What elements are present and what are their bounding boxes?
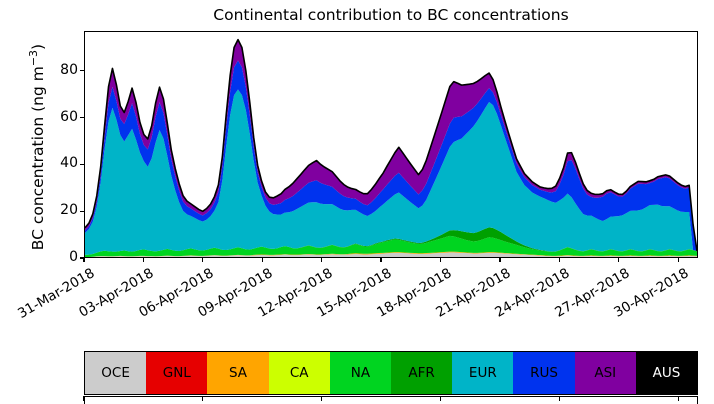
y-axis-label-tail: ) [29,44,47,50]
x-tick-mark [440,258,441,262]
legend-colorbar: OCEGNLSACANAAFREURRUSASIAUS [84,351,698,395]
legend-item-label: AFR [408,366,434,380]
legend-item-ca[interactable]: CA [269,352,330,394]
secondary-plot-area [84,396,698,404]
y-tick-label: 60 [0,110,78,124]
legend-item-aus[interactable]: AUS [636,352,697,394]
legend-item-label: GNL [163,366,191,380]
legend-item-label: NA [351,366,370,380]
y-axis-label: BC concentration (ng m−3) [27,17,47,277]
legend-item-asi[interactable]: ASI [575,352,636,394]
legend-item-label: RUS [530,366,558,380]
stacked-area-chart [85,32,697,257]
x-tick-mark [380,258,381,262]
legend-item-eur[interactable]: EUR [452,352,513,394]
legend-item-rus[interactable]: RUS [513,352,574,394]
x-tick-mark [559,258,560,262]
secondary-x-tick-mark [678,396,679,401]
x-tick-mark [678,258,679,262]
main-plot-area [84,31,698,258]
secondary-x-tick-mark [83,396,84,401]
legend-item-oce[interactable]: OCE [85,352,146,394]
legend-item-afr[interactable]: AFR [391,352,452,394]
figure-canvas: Continental contribution to BC concentra… [0,0,714,402]
legend-item-label: ASI [594,366,616,380]
x-tick-mark [262,258,263,262]
x-tick-mark [321,258,322,262]
legend-item-label: AUS [653,366,681,380]
legend-item-na[interactable]: NA [330,352,391,394]
chart-title: Continental contribution to BC concentra… [84,5,698,25]
legend-item-label: EUR [469,366,497,380]
x-tick-mark [143,258,144,262]
legend-item-label: OCE [101,366,130,380]
secondary-x-tick-mark [202,396,203,401]
secondary-x-tick-mark [321,396,322,401]
y-tick-label: 0 [0,250,78,264]
legend-item-sa[interactable]: SA [207,352,268,394]
y-tick-label: 20 [0,203,78,217]
legend-item-label: CA [290,366,309,380]
x-tick-mark [83,258,84,262]
secondary-x-tick-mark [440,396,441,401]
legend-item-label: SA [229,366,247,380]
x-tick-mark [618,258,619,262]
y-tick-label: 40 [0,156,78,170]
legend-item-gnl[interactable]: GNL [146,352,207,394]
secondary-x-tick-mark [559,396,560,401]
y-tick-label: 80 [0,63,78,77]
x-tick-mark [202,258,203,262]
x-tick-mark [499,258,500,262]
